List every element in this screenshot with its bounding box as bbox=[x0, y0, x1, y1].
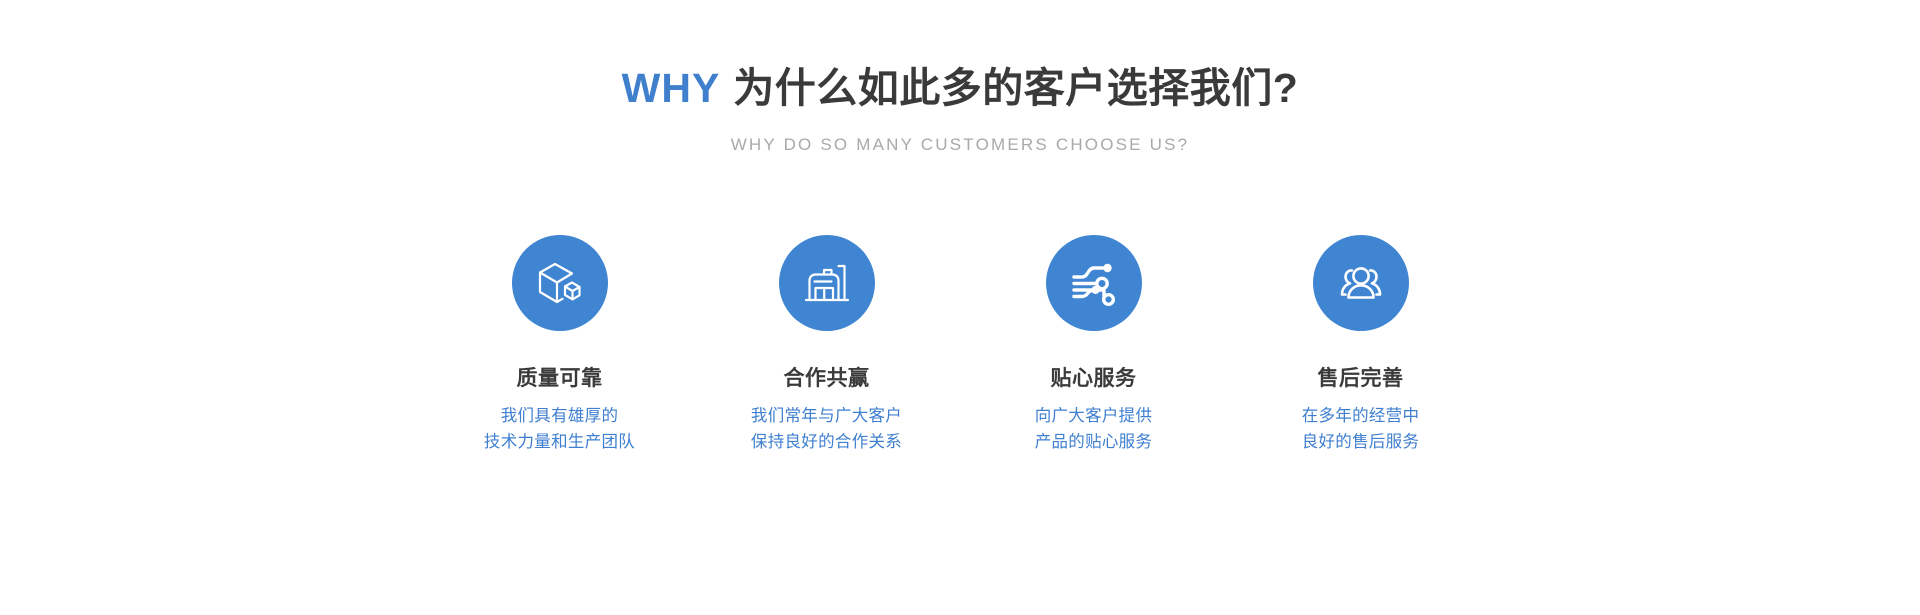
headline-prefix: WHY bbox=[622, 65, 721, 111]
page-title: WHY为什么如此多的客户选择我们? bbox=[0, 64, 1920, 113]
package-box-icon bbox=[533, 256, 587, 310]
factory-icon bbox=[800, 256, 854, 310]
feature-desc-line-1: 我们常年与广大客户 bbox=[751, 404, 902, 430]
feature-desc-line-2: 产品的贴心服务 bbox=[1035, 430, 1153, 456]
feature-item-aftersales[interactable]: 售后完善 在多年的经营中 良好的售后服务 bbox=[1227, 235, 1494, 455]
feature-item-cooperation[interactable]: 合作共赢 我们常年与广大客户 保持良好的合作关系 bbox=[693, 235, 960, 455]
feature-title: 贴心服务 bbox=[1051, 366, 1137, 391]
feature-title: 质量可靠 bbox=[517, 366, 603, 391]
feature-desc-line-1: 向广大客户提供 bbox=[1035, 404, 1153, 430]
feature-list: 质量可靠 我们具有雄厚的 技术力量和生产团队 bbox=[0, 235, 1920, 455]
headline-main: 为什么如此多的客户选择我们? bbox=[733, 65, 1298, 111]
feature-icon-circle bbox=[779, 235, 875, 331]
feature-desc-line-2: 良好的售后服务 bbox=[1302, 430, 1420, 456]
network-nodes-icon bbox=[1067, 256, 1121, 310]
feature-title: 售后完善 bbox=[1318, 366, 1404, 391]
feature-desc-line-1: 在多年的经营中 bbox=[1302, 404, 1420, 430]
feature-desc-line-2: 保持良好的合作关系 bbox=[751, 430, 902, 456]
feature-description: 我们具有雄厚的 技术力量和生产团队 bbox=[484, 404, 635, 455]
why-choose-us-section: WHY为什么如此多的客户选择我们? WHY DO SO MANY CUSTOME… bbox=[0, 0, 1920, 615]
section-subtitle: WHY DO SO MANY CUSTOMERS CHOOSE US? bbox=[0, 135, 1920, 155]
feature-description: 在多年的经营中 良好的售后服务 bbox=[1302, 404, 1420, 455]
feature-icon-circle bbox=[1313, 235, 1409, 331]
feature-item-quality[interactable]: 质量可靠 我们具有雄厚的 技术力量和生产团队 bbox=[426, 235, 693, 455]
feature-icon-circle bbox=[512, 235, 608, 331]
feature-description: 向广大客户提供 产品的贴心服务 bbox=[1035, 404, 1153, 455]
feature-icon-circle bbox=[1046, 235, 1142, 331]
feature-desc-line-2: 技术力量和生产团队 bbox=[484, 430, 635, 456]
feature-item-service[interactable]: 贴心服务 向广大客户提供 产品的贴心服务 bbox=[960, 235, 1227, 455]
feature-description: 我们常年与广大客户 保持良好的合作关系 bbox=[751, 404, 902, 455]
people-group-icon bbox=[1334, 256, 1388, 310]
feature-desc-line-1: 我们具有雄厚的 bbox=[484, 404, 635, 430]
feature-title: 合作共赢 bbox=[784, 366, 870, 391]
section-heading-block: WHY为什么如此多的客户选择我们? WHY DO SO MANY CUSTOME… bbox=[0, 64, 1920, 155]
